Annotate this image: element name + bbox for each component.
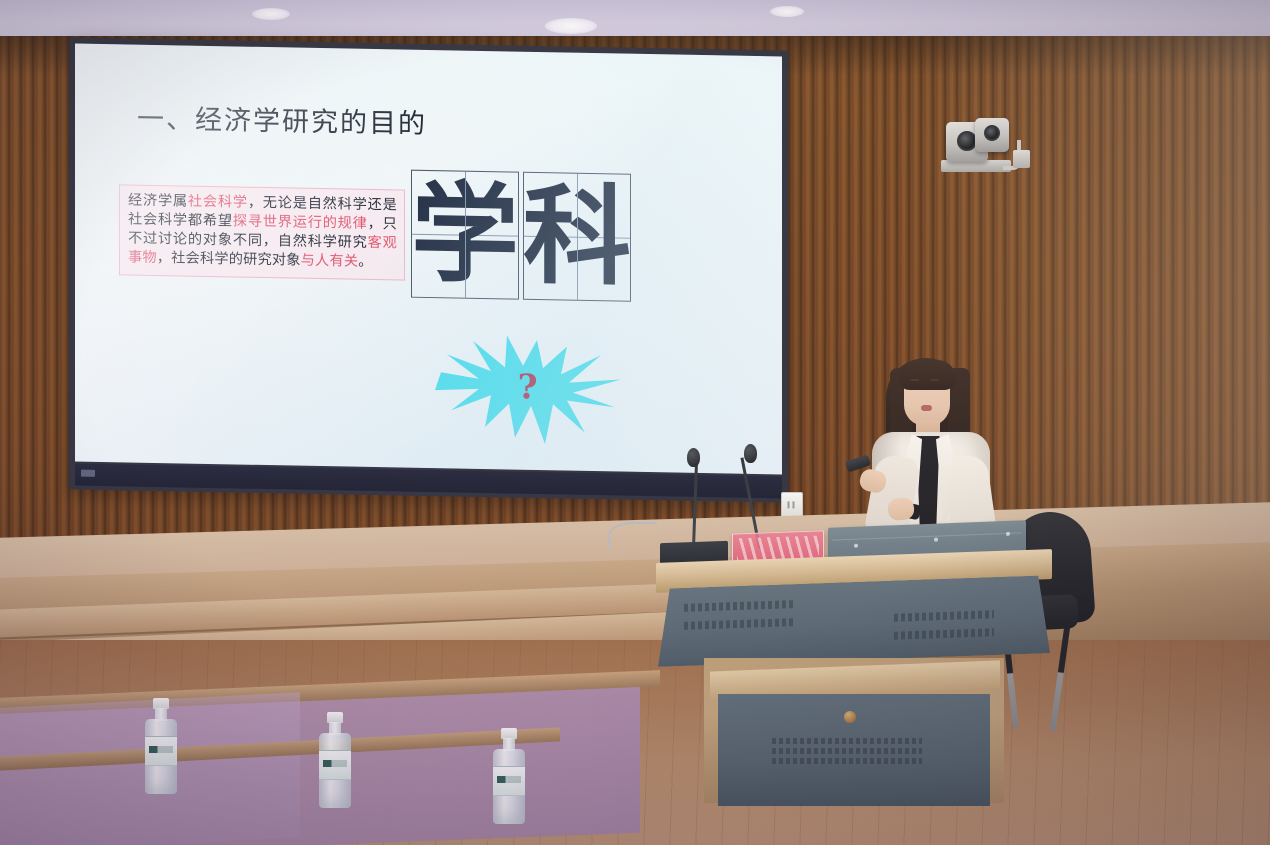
body-text-plain: ，社会科学的研究对象 xyxy=(157,250,301,269)
microphone-head-icon xyxy=(687,448,700,467)
ceiling-light xyxy=(252,8,290,20)
projection-screen: 一、经济学研究的目的 经济学属社会科学，无论是自然科学还是社会科学都希望探寻世界… xyxy=(69,37,788,502)
presentation-slide: 一、经济学研究的目的 经济学属社会科学，无论是自然科学还是社会科学都希望探寻世界… xyxy=(75,44,782,475)
character-grid: 学 科 xyxy=(411,170,631,302)
question-mark-symbol: ? xyxy=(518,367,538,407)
big-character-2: 科 xyxy=(524,173,630,301)
eyebrow-right xyxy=(930,379,939,381)
mouth xyxy=(921,405,932,411)
screen-surface: 一、经济学研究的目的 经济学属社会科学，无论是自然科学还是社会科学都希望探寻世界… xyxy=(75,44,782,475)
water-bottle xyxy=(318,712,352,808)
microphone-cable xyxy=(608,522,658,550)
cabinet-vent-slots xyxy=(772,738,922,744)
monitor-screw xyxy=(854,544,858,548)
cabinet-vent-slots xyxy=(772,748,922,754)
body-text-plain: 经济学属 xyxy=(128,192,188,209)
slide-body-textbox: 经济学属社会科学，无论是自然科学还是社会科学都希望探寻世界运行的规律，只不过讨论… xyxy=(119,184,405,280)
slide-title: 一、经济学研究的目的 xyxy=(137,97,427,141)
lecture-hall-scene: 一、经济学研究的目的 经济学属社会科学，无论是自然科学还是社会科学都希望探寻世界… xyxy=(0,0,1270,845)
camera-lens-icon xyxy=(984,125,1000,141)
ceiling-light xyxy=(770,6,804,17)
starburst-callout: ? xyxy=(433,332,623,447)
body-text-highlight: 社会科学 xyxy=(188,194,248,211)
cabinet-lock-icon[interactable] xyxy=(844,711,856,723)
hair-fringe xyxy=(898,360,956,390)
body-text-highlight: 与人有关 xyxy=(301,252,359,269)
eye-left xyxy=(911,384,918,387)
big-character-1: 学 xyxy=(412,171,518,299)
character-cell: 学 xyxy=(411,170,519,300)
bottle-label xyxy=(493,766,525,796)
microphone-head-icon xyxy=(744,444,757,463)
monitor-screw xyxy=(1006,532,1010,536)
water-bottle xyxy=(144,698,178,794)
ceiling-light xyxy=(545,18,597,34)
water-bottle xyxy=(492,728,526,824)
lectern[interactable] xyxy=(640,498,1060,845)
eye-right xyxy=(931,384,938,387)
body-text-plain: 。 xyxy=(358,253,372,269)
bottle-label xyxy=(319,750,351,780)
camera-lens-icon xyxy=(957,131,977,151)
body-text-highlight: 探寻世界运行的规律 xyxy=(233,213,368,231)
bottle-label xyxy=(145,736,177,766)
monitor-screw xyxy=(934,538,938,542)
camera-junction-box xyxy=(1013,150,1030,168)
character-cell: 科 xyxy=(523,172,631,302)
eyebrow-left xyxy=(910,379,919,381)
cabinet-vent-slots xyxy=(772,758,922,764)
